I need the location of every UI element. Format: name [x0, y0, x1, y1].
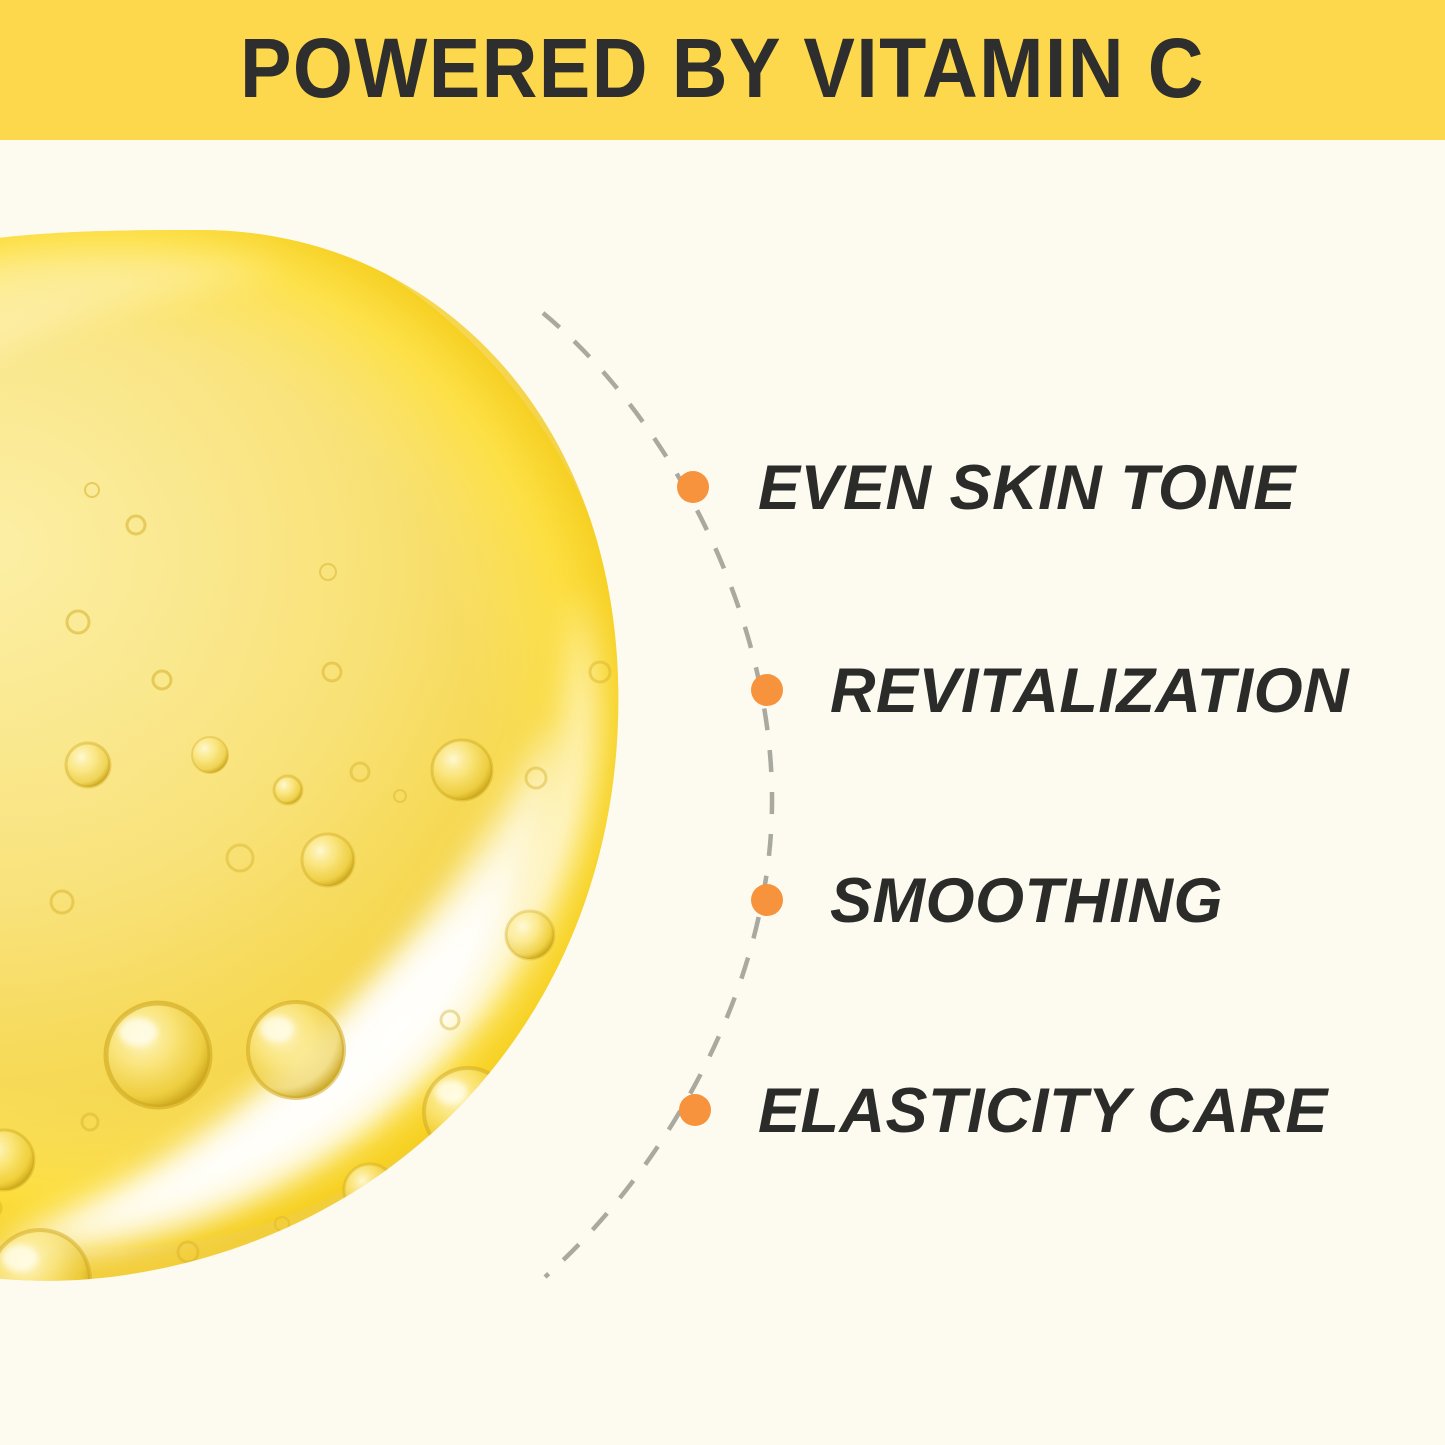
benefit-label: SMOOTHING [830, 870, 1223, 933]
infographic-canvas: POWERED BY VITAMIN C EVEN SKIN TONE REVI… [0, 0, 1445, 1445]
benefit-label: EVEN SKIN TONE [758, 457, 1296, 520]
bullet-dot-smoothing [751, 884, 783, 916]
bullet-dot-revitalization [751, 674, 783, 706]
bullet-dot-elasticity-care [679, 1094, 711, 1126]
benefit-label: REVITALIZATION [830, 660, 1349, 723]
benefit-item-revitalization: REVITALIZATION [830, 651, 1349, 731]
benefit-item-smoothing: SMOOTHING [830, 861, 1223, 941]
dashed-arc-icon [543, 313, 772, 1277]
benefit-item-even-skin-tone: EVEN SKIN TONE [758, 448, 1296, 528]
bullet-dot-even-skin-tone [677, 471, 709, 503]
benefit-item-elasticity-care: ELASTICITY CARE [758, 1071, 1328, 1151]
benefit-label: ELASTICITY CARE [758, 1080, 1328, 1143]
